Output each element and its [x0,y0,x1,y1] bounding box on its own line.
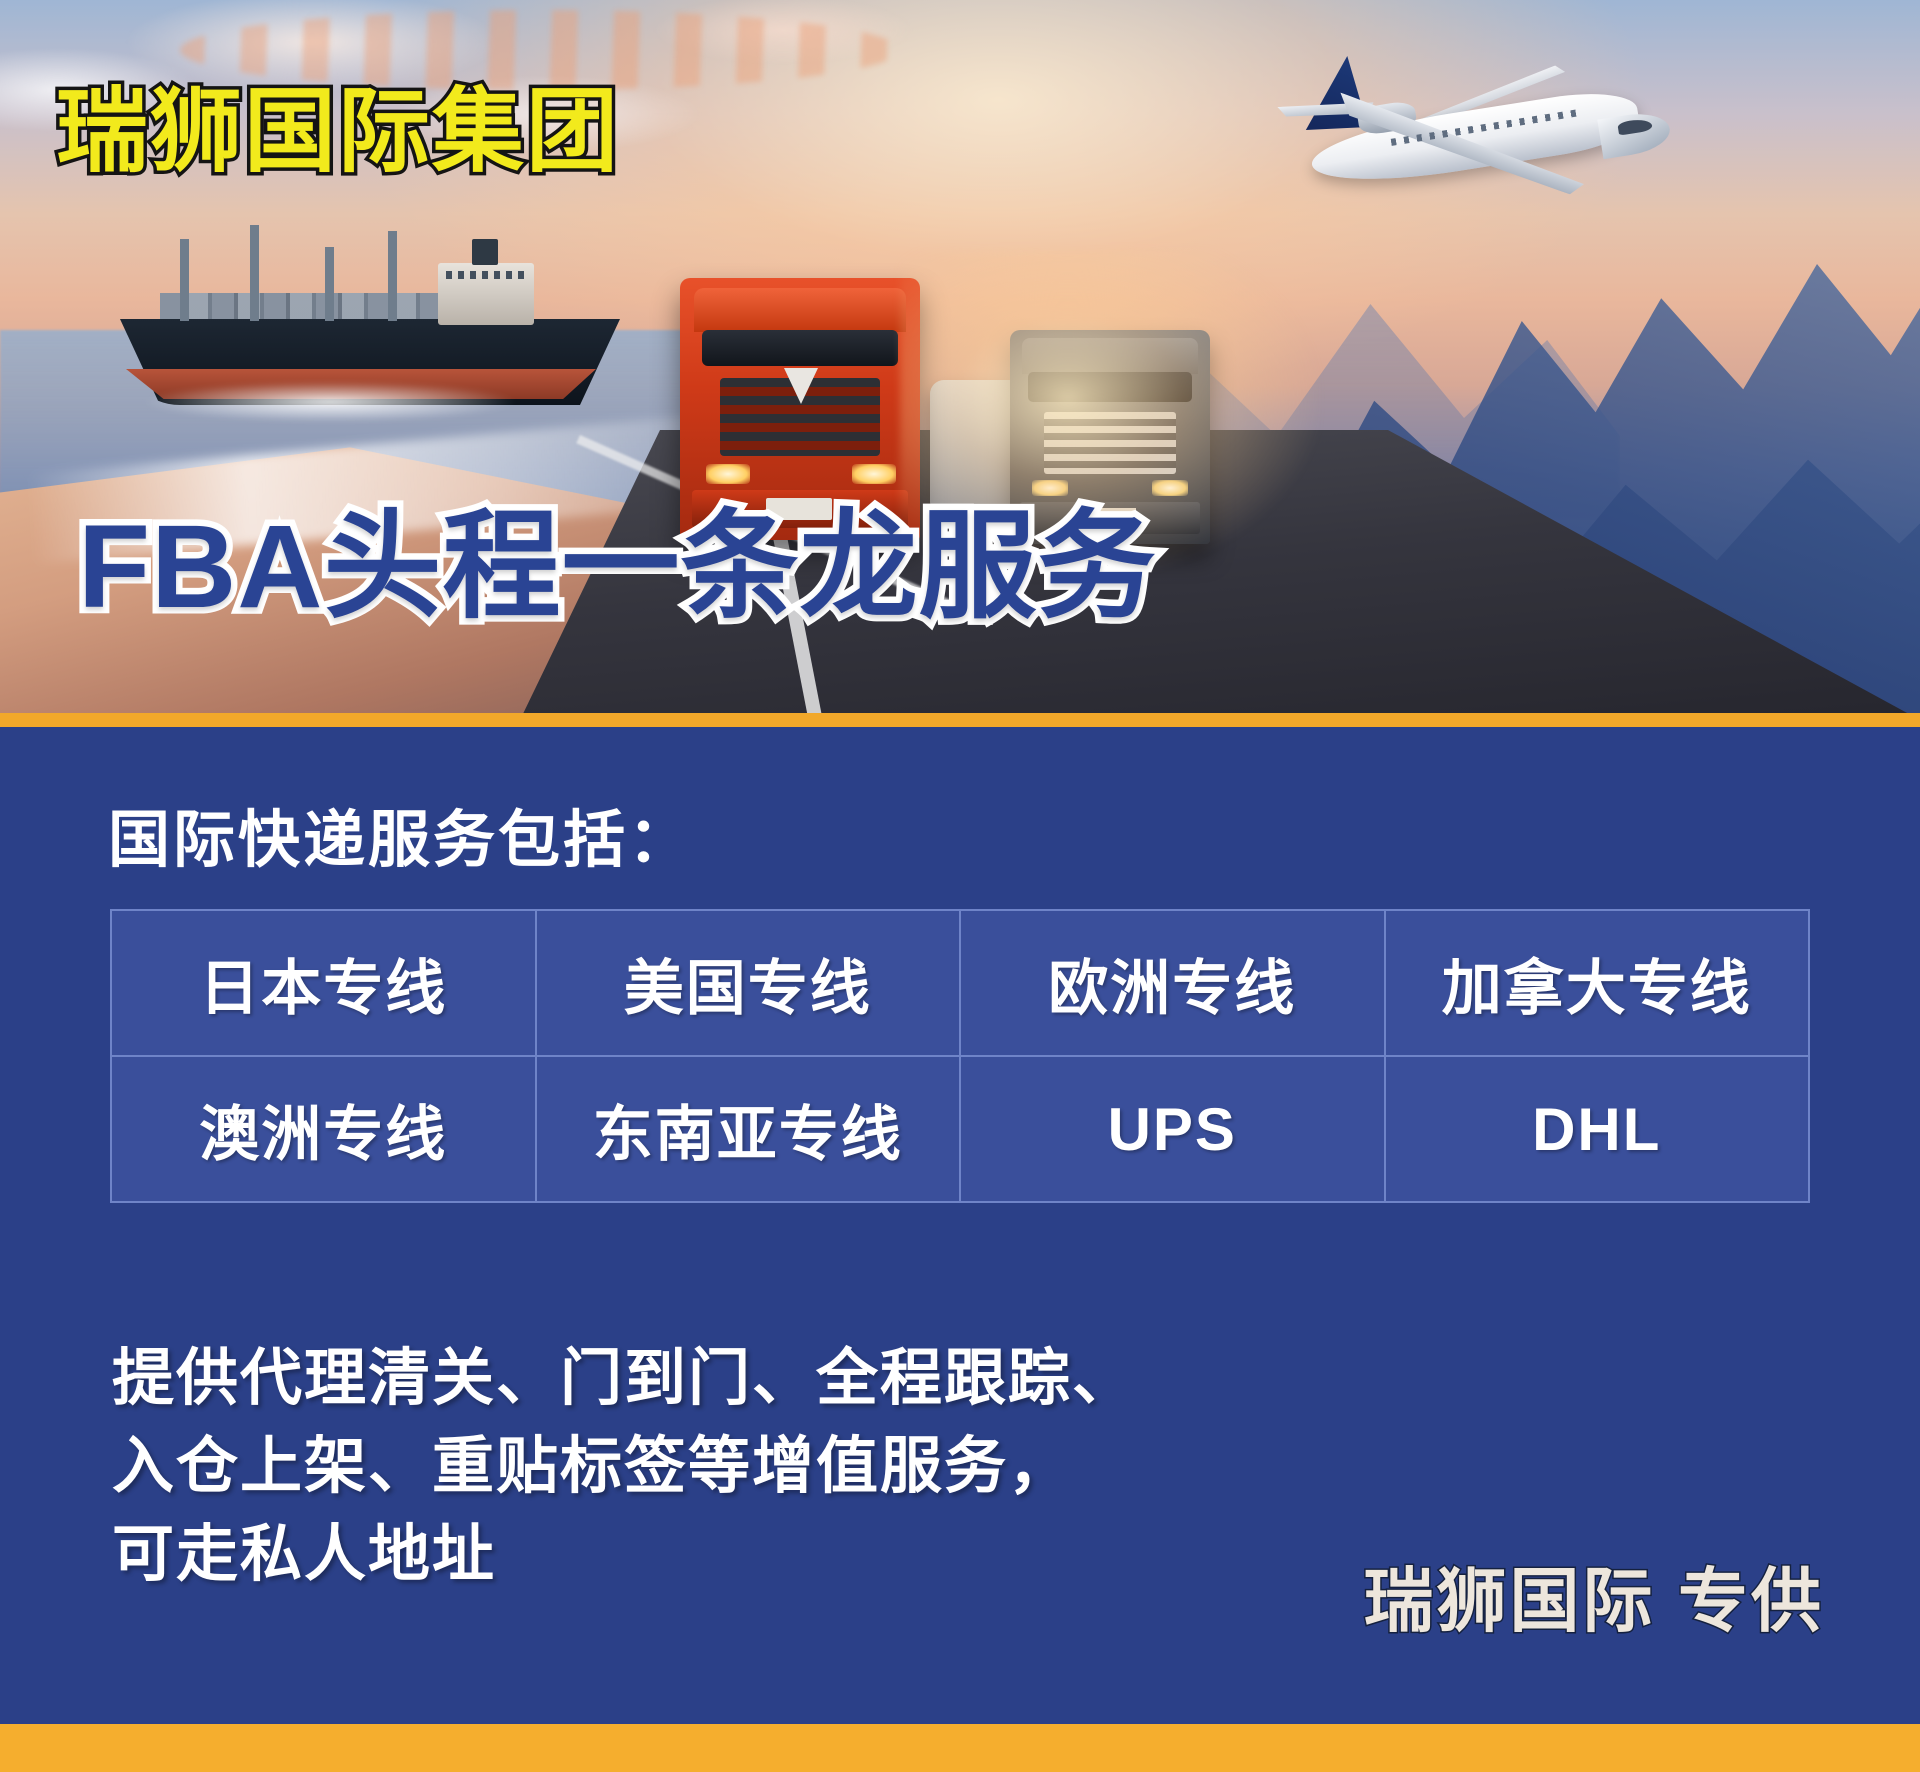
shipping-containers-icon [160,293,460,319]
cloud-streaks-icon [180,10,900,90]
ship-funnel-icon [472,239,498,265]
truck-windshield-icon [702,330,898,366]
service-cell-dhl[interactable]: DHL [1385,1056,1810,1202]
ship-crane-icon [388,231,397,321]
service-cell-usa[interactable]: 美国专线 [536,910,961,1056]
poster-root: 瑞狮国际集团 FBA头程一条龙服务 国际快递服务包括： 日本专线 美国专线 欧洲… [0,0,1920,1772]
services-heading: 国际快递服务包括： [108,789,693,879]
service-cell-ups[interactable]: UPS [960,1056,1385,1202]
ship-wake-icon [70,372,590,432]
body-line: 提供代理清关、门到门、全程跟踪、 [112,1335,1136,1423]
ship-crane-icon [250,225,259,321]
service-cell-australia[interactable]: 澳洲专线 [111,1056,536,1202]
airplane-icon [1270,40,1690,240]
ship-crane-icon [180,239,189,321]
signature-text: 瑞狮国际 专供 [1364,1545,1824,1646]
service-cell-japan[interactable]: 日本专线 [111,910,536,1056]
services-table: 日本专线 美国专线 欧洲专线 加拿大专线 澳洲专线 东南亚专线 UPS DHL [110,909,1810,1203]
truck-headlight-icon [706,464,750,484]
table-row: 日本专线 美国专线 欧洲专线 加拿大专线 [111,910,1809,1056]
truck-cab-roof-icon [694,288,906,332]
truck-headlight-icon [852,464,896,484]
services-panel: 国际快递服务包括： 日本专线 美国专线 欧洲专线 加拿大专线 澳洲专线 东南亚专… [0,727,1920,1724]
company-logo-text: 瑞狮国际集团 [56,86,620,178]
hero-banner: 瑞狮国际集团 FBA头程一条龙服务 [0,0,1920,713]
ship-superstructure-icon [438,263,534,325]
table-row: 澳洲专线 东南亚专线 UPS DHL [111,1056,1809,1202]
service-cell-canada[interactable]: 加拿大专线 [1385,910,1810,1056]
service-cell-southeast-asia[interactable]: 东南亚专线 [536,1056,961,1202]
service-cell-europe[interactable]: 欧洲专线 [960,910,1385,1056]
body-line: 可走私人地址 [112,1511,1136,1599]
value-added-services-text: 提供代理清关、门到门、全程跟踪、 入仓上架、重贴标签等增值服务， 可走私人地址 [112,1335,1136,1599]
gold-divider [0,713,1920,727]
footer-accent-bar [0,1724,1920,1772]
ship-crane-icon [325,247,334,321]
body-line: 入仓上架、重贴标签等增值服务， [112,1423,1136,1511]
hero-headline: FBA头程一条龙服务 [78,508,1157,626]
